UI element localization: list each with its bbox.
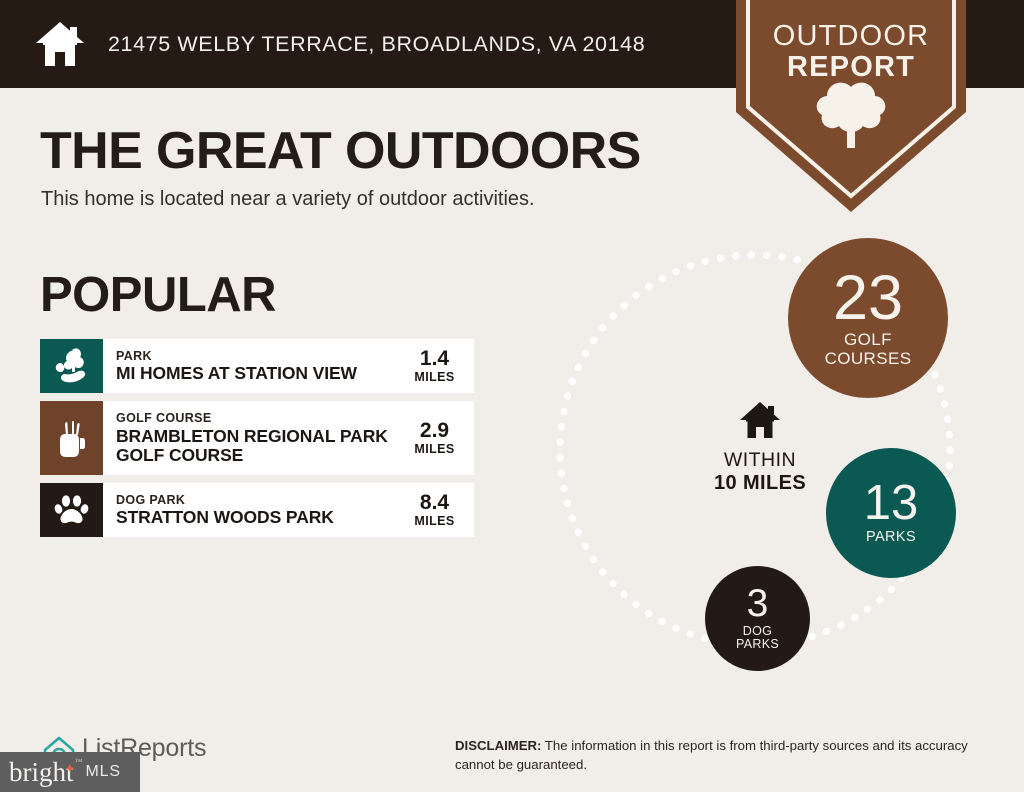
list-item-distance-value: 1.4	[408, 348, 461, 370]
paw-print-icon	[52, 490, 92, 530]
trademark-mark: ™	[75, 758, 83, 766]
stat-bubble-parks[interactable]: 13 PARKS	[826, 448, 956, 578]
home-icon-wrap	[675, 400, 845, 440]
stat-label: GOLF COURSES	[825, 331, 912, 368]
list-item-body: DOG PARK STRATTON WOODS PARK 8.4 MILES	[103, 483, 474, 537]
stat-label: DOG PARKS	[736, 625, 779, 652]
diagram-center-label: WITHIN 10 MILES	[675, 400, 845, 496]
list-item-distance: 1.4 MILES	[408, 348, 470, 384]
list-item-distance: 8.4 MILES	[408, 492, 470, 528]
list-item-icon-box	[40, 483, 103, 537]
section-title-popular: POPULAR	[40, 267, 276, 323]
outdoor-report-badge: OUTDOOR REPORT	[726, 0, 976, 212]
page-title: THE GREAT OUTDOORS	[40, 121, 641, 181]
stat-bubble-golf-courses[interactable]: 23 GOLF COURSES	[788, 238, 948, 398]
list-item-distance: 2.9 MILES	[408, 420, 470, 456]
mls-wordmark: MLS	[86, 763, 121, 781]
list-item-distance-unit: MILES	[408, 442, 461, 456]
badge-shape	[726, 0, 976, 212]
list-item-name: STRATTON WOODS PARK	[116, 508, 408, 528]
list-item-icon-box	[40, 339, 103, 393]
within-10-miles-diagram: WITHIN 10 MILES 23 GOLF COURSES 13 PARKS…	[520, 210, 1024, 690]
list-item-name: BRAMBLETON REGIONAL PARK GOLF COURSE	[116, 427, 408, 467]
list-item-category: DOG PARK	[116, 492, 408, 508]
list-item[interactable]: PARK MI HOMES AT STATION VIEW 1.4 MILES	[40, 339, 474, 393]
golf-bag-icon	[52, 418, 92, 458]
list-item-distance-value: 2.9	[408, 420, 461, 442]
list-item-body: GOLF COURSE BRAMBLETON REGIONAL PARK GOL…	[103, 401, 474, 475]
list-item-icon-box	[40, 401, 103, 475]
list-item-body: PARK MI HOMES AT STATION VIEW 1.4 MILES	[103, 339, 474, 393]
list-item-category: PARK	[116, 348, 408, 364]
bright-mls-watermark: bright ✦ ™ MLS	[0, 752, 140, 792]
list-item[interactable]: GOLF COURSE BRAMBLETON REGIONAL PARK GOL…	[40, 401, 474, 475]
outdoor-report-page: 21475 WELBY TERRACE, BROADLANDS, VA 2014…	[0, 0, 1024, 792]
stat-count: 23	[833, 268, 903, 329]
center-line1: WITHIN	[675, 449, 845, 472]
disclaimer: DISCLAIMER: The information in this repo…	[455, 737, 1000, 774]
stat-label: PARKS	[866, 530, 916, 546]
home-icon	[34, 18, 86, 70]
list-item[interactable]: DOG PARK STRATTON WOODS PARK 8.4 MILES	[40, 483, 474, 537]
stat-bubble-dog-parks[interactable]: 3 DOG PARKS	[705, 566, 810, 671]
property-address: 21475 WELBY TERRACE, BROADLANDS, VA 2014…	[108, 32, 645, 57]
page-subtitle: This home is located near a variety of o…	[41, 188, 535, 211]
home-icon	[739, 400, 781, 440]
stat-count: 3	[747, 585, 769, 623]
popular-list: PARK MI HOMES AT STATION VIEW 1.4 MILES	[40, 339, 474, 545]
list-item-distance-value: 8.4	[408, 492, 461, 514]
bright-wordmark: bright ✦ ™	[9, 759, 74, 786]
center-line2: 10 MILES	[675, 472, 845, 496]
disclaimer-label: DISCLAIMER:	[455, 738, 541, 753]
list-item-name: MI HOMES AT STATION VIEW	[116, 364, 408, 384]
park-tree-icon	[52, 346, 92, 386]
stat-count: 13	[864, 480, 919, 528]
list-item-distance-unit: MILES	[408, 514, 461, 528]
list-item-category: GOLF COURSE	[116, 410, 408, 426]
list-item-distance-unit: MILES	[408, 370, 461, 384]
